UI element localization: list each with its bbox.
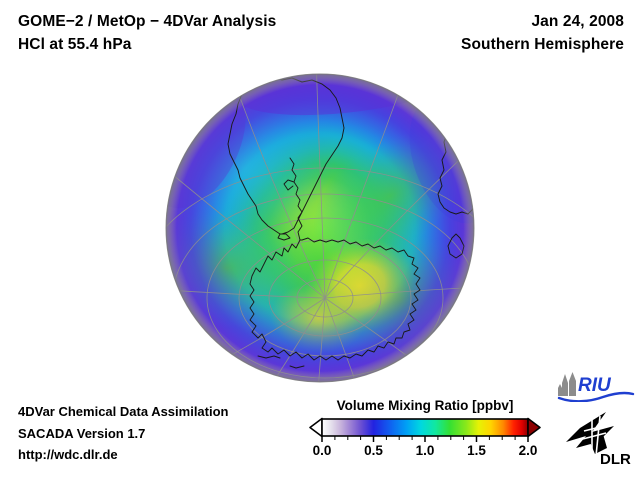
field-base [166, 74, 474, 382]
header-left-block: GOME−2 / MetOp − 4DVar Analysis HCl at 5… [18, 10, 276, 56]
colorbar-arrow-left [310, 419, 322, 437]
coastline-south-america-east [252, 76, 344, 234]
coastline-antarctic-peninsula [290, 158, 302, 240]
colorbar-tick-1: 0.5 [364, 443, 383, 458]
coastlines [228, 76, 476, 380]
graticule-latitudes [135, 168, 515, 428]
field-cyan-upper-left [124, 58, 363, 279]
colorbar-title: Volume Mixing Ratio [ppbv] [306, 398, 544, 413]
field-green-tongue-ne [290, 105, 491, 287]
field-green-lobe-w [139, 192, 313, 344]
dlr-wordmark: DLR [600, 451, 631, 468]
field-maximum-south [266, 278, 371, 359]
coastline-scotia-islets [290, 366, 304, 368]
coastline-africa [438, 92, 476, 214]
coastline-south-georgia [258, 356, 280, 358]
dlr-logo-svg: DLR [562, 410, 636, 470]
colorbar-ticks [322, 436, 528, 442]
header-right-block: Jan 24, 2008 Southern Hemisphere [461, 10, 624, 56]
field-violet-upper-left [127, 56, 266, 223]
field-green-lobe-se [304, 212, 497, 389]
field-blue-right-limb [394, 85, 511, 235]
colorbar-tick-3: 1.5 [467, 443, 486, 458]
riu-spires-icon [558, 372, 576, 396]
date-label: Jan 24, 2008 [461, 10, 624, 33]
footer-line-assimilation: 4DVar Chemical Data Assimilation [18, 401, 229, 423]
colorbar-tick-4: 2.0 [519, 443, 538, 458]
colorbar: Volume Mixing Ratio [ppbv] [306, 398, 544, 461]
field-green-core [166, 124, 470, 400]
riu-logo-svg: RIU [557, 372, 635, 402]
region-label: Southern Hemisphere [461, 33, 624, 56]
footer-left-block: 4DVar Chemical Data Assimilation SACADA … [18, 401, 229, 466]
riu-wordmark: RIU [578, 375, 612, 396]
page-subtitle-species: HCl at 55.4 hPa [18, 33, 276, 56]
colorbar-svg [306, 416, 544, 442]
dlr-wing-icon [566, 412, 614, 456]
coastline-tierra-del-fuego [278, 234, 290, 240]
dlr-logo: DLR [562, 410, 636, 475]
globe-limb-halo [166, 74, 474, 382]
coastline-new-zealand [382, 372, 406, 378]
coastline-south-america-west [228, 76, 280, 234]
footer-line-version: SACADA Version 1.7 [18, 423, 229, 445]
colorbar-tick-0: 0.0 [313, 443, 332, 458]
footer-line-url[interactable]: http://wdc.dlr.de [18, 444, 229, 466]
colorbar-arrow-right [528, 419, 540, 437]
coastline-antarctica [250, 238, 420, 360]
colorbar-tick-2: 1.0 [416, 443, 435, 458]
coastline-madagascar [448, 234, 464, 258]
colorbar-tick-labels: 0.0 0.5 1.0 1.5 2.0 [306, 443, 544, 461]
page-title: GOME−2 / MetOp − 4DVar Analysis [18, 10, 276, 33]
riu-logo: RIU [557, 372, 635, 407]
field-limb-band [166, 74, 474, 382]
colorbar-gradient [322, 419, 528, 436]
field-maximum-east-antarctica [291, 222, 429, 349]
globe-outline [166, 74, 474, 382]
